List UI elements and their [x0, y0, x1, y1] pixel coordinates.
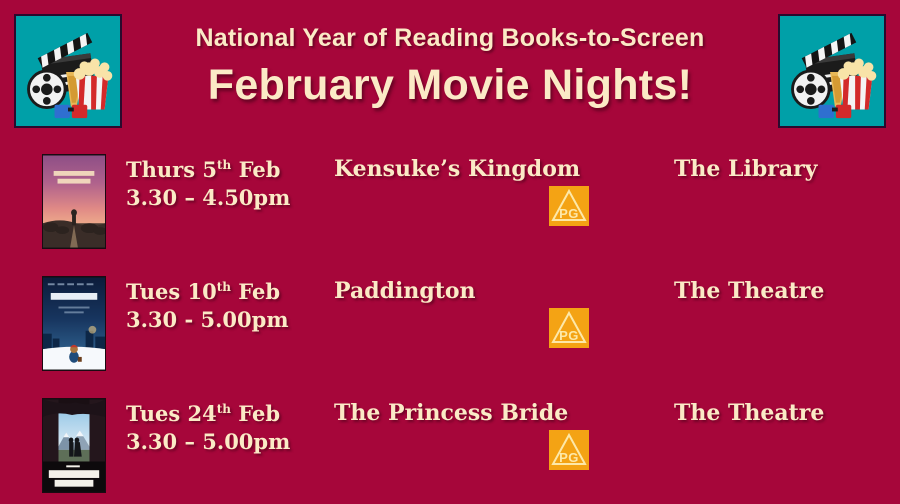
the-princess-bride-poster: [42, 398, 106, 493]
venue-label: The Library: [674, 156, 817, 182]
schedule-month: Feb: [238, 279, 280, 304]
schedule-time: 3.30 – 5.00pm: [126, 428, 290, 456]
schedule-day: Tues: [126, 279, 180, 304]
schedule-day: Thurs: [126, 157, 195, 182]
schedule-row: Thurs 5th Feb 3.30 – 4.50pm Kensuke’s Ki…: [0, 148, 900, 270]
rating-badge-pg: PG: [549, 430, 589, 470]
header-title: February Movie Nights!: [130, 61, 770, 110]
schedule-date: Thurs 5th Feb: [126, 156, 290, 184]
schedule-row: Tues 24th Feb 3.30 – 5.00pm The Princess…: [0, 392, 900, 504]
venue-label: The Theatre: [674, 278, 824, 304]
schedule-daynum: 10: [187, 279, 216, 304]
schedule-month: Feb: [238, 401, 280, 426]
schedule-month: Feb: [239, 157, 281, 182]
poster-header: National Year of Reading Books-to-Screen…: [0, 0, 900, 148]
schedule-datetime: Thurs 5th Feb 3.30 – 4.50pm: [126, 156, 290, 212]
venue-label: The Theatre: [674, 400, 824, 426]
rating-badge-pg: PG: [549, 308, 589, 348]
schedule-time: 3.30 - 5.00pm: [126, 306, 289, 334]
schedule-day: Tues: [126, 401, 180, 426]
schedule-daynum: 5: [202, 157, 217, 182]
schedule-time: 3.30 – 4.50pm: [126, 184, 290, 212]
film-title: Kensuke’s Kingdom: [334, 156, 580, 182]
movie-clapperboard-popcorn-icon: [778, 14, 886, 128]
paddington-poster: [42, 276, 106, 371]
schedule-datetime: Tues 10th Feb 3.30 - 5.00pm: [126, 278, 289, 334]
schedule-date: Tues 24th Feb: [126, 400, 290, 428]
kensukes-kingdom-poster: [42, 154, 106, 249]
schedule-date-suffix: th: [217, 280, 231, 294]
schedule-date-suffix: th: [217, 158, 231, 172]
movie-clapperboard-popcorn-icon: [14, 14, 122, 128]
rating-label: PG: [549, 328, 589, 343]
schedule-datetime: Tues 24th Feb 3.30 – 5.00pm: [126, 400, 290, 456]
rating-label: PG: [549, 206, 589, 221]
film-title: Paddington: [334, 278, 476, 304]
schedule-row: Tues 10th Feb 3.30 - 5.00pm Paddington P…: [0, 270, 900, 392]
schedule-date: Tues 10th Feb: [126, 278, 289, 306]
page-title: National Year of Reading Books-to-Screen…: [130, 24, 770, 110]
schedule-daynum: 24: [187, 401, 216, 426]
movie-schedule: Thurs 5th Feb 3.30 – 4.50pm Kensuke’s Ki…: [0, 148, 900, 504]
rating-badge-pg: PG: [549, 186, 589, 226]
schedule-date-suffix: th: [217, 402, 231, 416]
film-title: The Princess Bride: [334, 400, 568, 426]
header-subtitle: National Year of Reading Books-to-Screen: [130, 24, 770, 53]
rating-label: PG: [549, 450, 589, 465]
